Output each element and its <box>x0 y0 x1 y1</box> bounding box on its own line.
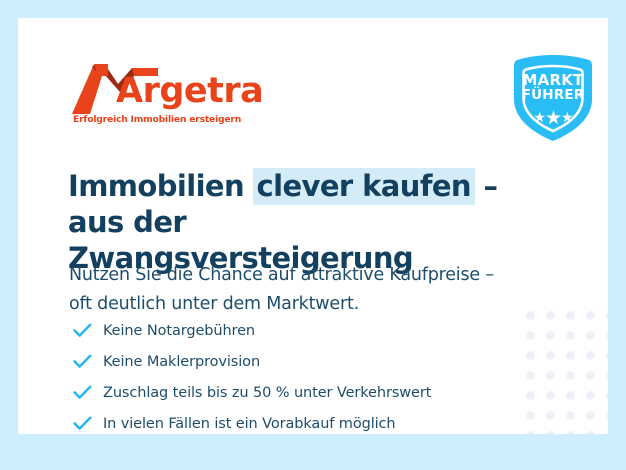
decoration-dot <box>606 351 609 360</box>
decoration-dot <box>566 431 575 435</box>
list-item-label: In vielen Fällen ist ein Vorabkauf mögli… <box>103 416 396 432</box>
decoration-dot <box>546 411 555 420</box>
decoration-dot <box>606 331 609 340</box>
decoration-dot <box>606 431 609 435</box>
logo-wordmark: Argetra <box>116 74 263 109</box>
check-icon <box>73 323 103 338</box>
headline-line-1: Immobilien clever kaufen – <box>68 168 538 204</box>
decoration-dot <box>606 371 609 380</box>
check-icon <box>73 385 103 400</box>
subheadline: Nutzen Sie die Chance auf attraktive Kau… <box>69 261 549 319</box>
decoration-dot <box>566 371 575 380</box>
market-leader-badge: MARKT FÜHRER ★★★ <box>507 52 599 144</box>
argetra-logo: Argetra Erfolgreich Immobilien ersteiger… <box>72 62 262 132</box>
benefit-list: Keine NotargebührenKeine Maklerprovision… <box>73 315 543 434</box>
list-item: Keine Maklerprovision <box>73 346 543 377</box>
list-item-label: Keine Maklerprovision <box>103 354 260 370</box>
headline-text-post: – <box>474 169 497 203</box>
list-item: Zuschlag teils bis zu 50 % unter Verkehr… <box>73 377 543 408</box>
check-icon <box>73 354 103 369</box>
decoration-dot <box>566 411 575 420</box>
list-item-label: Zuschlag teils bis zu 50 % unter Verkehr… <box>103 385 431 401</box>
decoration-dot <box>546 371 555 380</box>
headline-highlight: clever kaufen <box>253 168 475 205</box>
decoration-dot <box>586 391 595 400</box>
decoration-dot <box>546 431 555 435</box>
subheadline-line-1: Nutzen Sie die Chance auf attraktive Kau… <box>69 261 549 290</box>
list-item: Keine Notargebühren <box>73 315 543 346</box>
decoration-dot <box>566 311 575 320</box>
decoration-dot <box>586 311 595 320</box>
headline-text-pre: Immobilien <box>68 169 254 203</box>
list-item: In vielen Fällen ist ein Vorabkauf mögli… <box>73 408 543 434</box>
list-item-label: Keine Notargebühren <box>103 323 255 339</box>
decoration-dot <box>566 331 575 340</box>
decoration-dot <box>606 411 609 420</box>
decoration-dot <box>566 391 575 400</box>
check-icon <box>73 416 103 431</box>
decoration-dot <box>546 351 555 360</box>
decoration-dot <box>546 331 555 340</box>
decoration-dot <box>586 351 595 360</box>
decoration-dot <box>566 351 575 360</box>
promo-banner: Argetra Erfolgreich Immobilien ersteiger… <box>0 0 626 470</box>
decoration-dot <box>586 371 595 380</box>
logo-tagline: Erfolgreich Immobilien ersteigern <box>73 114 241 125</box>
shield-icon <box>507 52 599 144</box>
decoration-dot <box>546 391 555 400</box>
decoration-dot <box>606 311 609 320</box>
decoration-dot <box>586 411 595 420</box>
decoration-dot <box>586 431 595 435</box>
banner-card: Argetra Erfolgreich Immobilien ersteiger… <box>18 18 608 434</box>
decoration-dot <box>606 391 609 400</box>
decoration-dot <box>586 331 595 340</box>
